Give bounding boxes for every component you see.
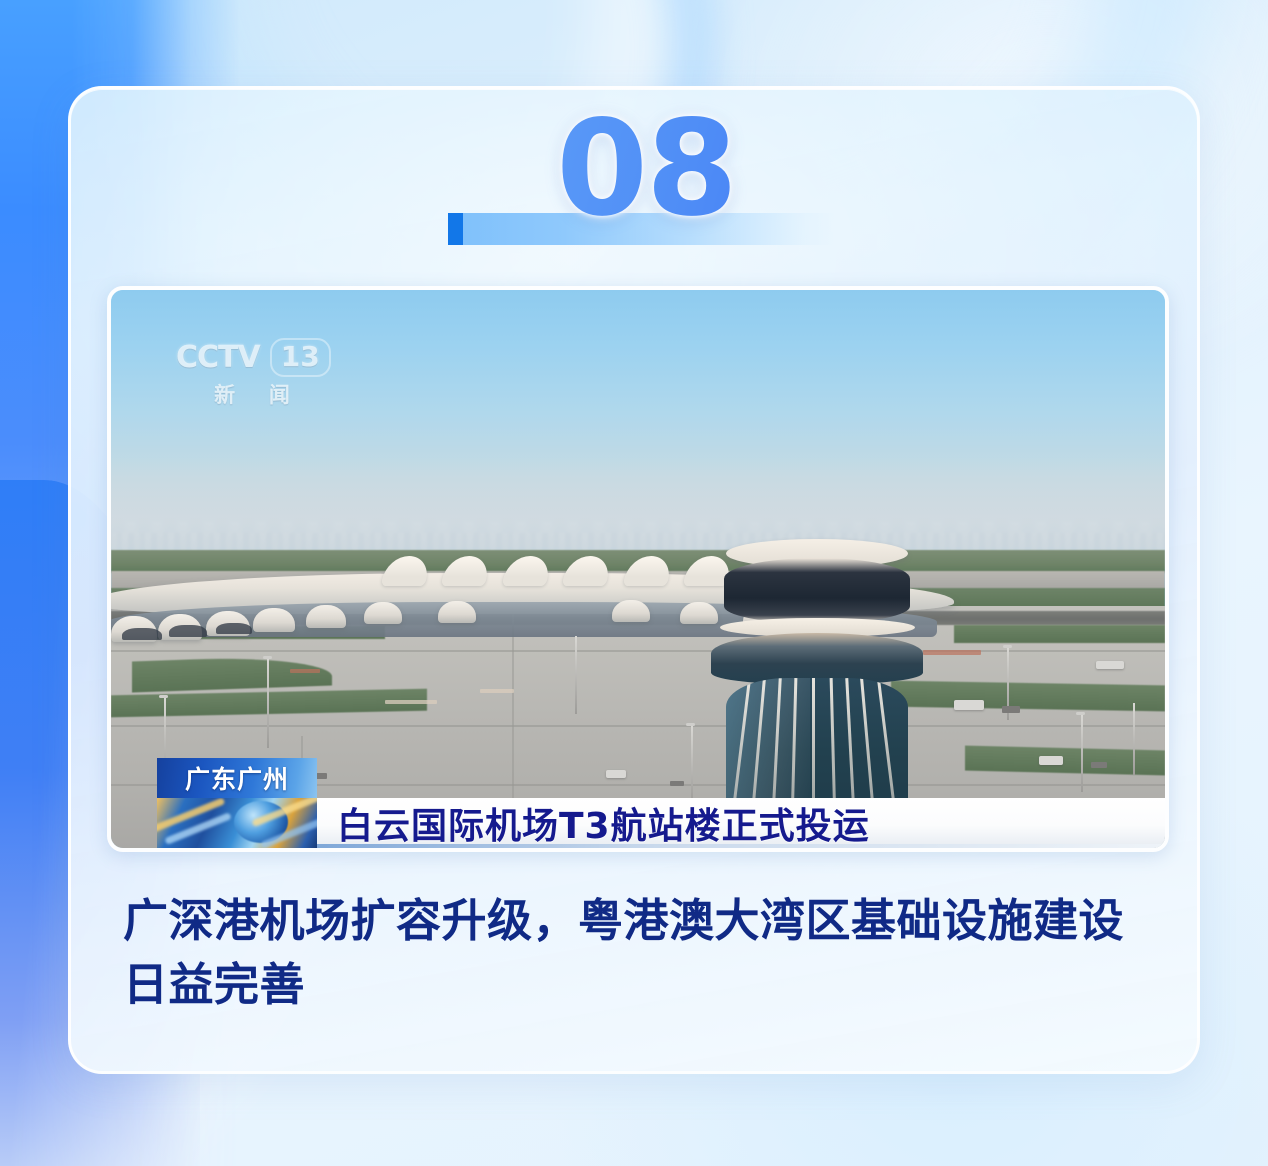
terminal-roof-wave — [623, 556, 673, 586]
news-lower-third: 广东广州 白云国际机场T3航站楼正式投运 — [111, 752, 1165, 848]
apron-light-head — [159, 695, 168, 698]
apron-marking-red-2 — [290, 669, 320, 673]
article-caption: 广深港机场扩容升级，粤港澳大湾区基础设施建设日益完善 — [123, 889, 1143, 1017]
jet-bridge-shadow — [169, 625, 207, 637]
headline-underline — [317, 844, 1165, 848]
cctv-channel-number-box: 13 — [270, 338, 331, 377]
cctv-wordmark: CCTV — [176, 340, 260, 375]
jet-bridge-shadow — [216, 623, 252, 634]
terminal-roof-wave — [502, 556, 552, 586]
jet-bridge — [364, 602, 402, 624]
apron-marking-2 — [480, 689, 514, 693]
cctv-channel-logo: CCTV 13 新 闻 — [176, 338, 328, 404]
apron-light-pole — [267, 658, 269, 747]
apron-light-head — [1003, 645, 1012, 648]
news-video-frame[interactable]: CCTV 13 新 闻 广东广州 — [107, 286, 1169, 852]
section-number: 08 — [71, 103, 1197, 235]
scene-grass-strip-2 — [954, 625, 1165, 643]
apron-light-head — [686, 723, 695, 726]
lower-third-headline-bar: 白云国际机场T3航站楼正式投运 — [317, 798, 1165, 848]
jet-bridge-shadow — [122, 628, 162, 640]
tower-control-cab — [724, 558, 910, 623]
section-number-header: 08 — [71, 89, 1197, 289]
apron-light-head — [1076, 712, 1085, 715]
location-label: 广东广州 — [185, 760, 289, 796]
video-scene: CCTV 13 新 闻 广东广州 — [111, 290, 1165, 848]
headline-text: 白云国际机场T3航站楼正式投运 — [317, 797, 870, 848]
cctv-logo-row: CCTV 13 — [176, 338, 328, 377]
apron-light-pole — [575, 636, 577, 714]
tower-observation-deck — [711, 633, 923, 685]
ground-vehicle — [954, 700, 984, 710]
apron-marking-red-1 — [923, 650, 981, 655]
cctv-slash-icon — [260, 343, 270, 373]
terminal-roof-wave — [562, 556, 612, 586]
apron-light-head — [263, 656, 272, 659]
jet-bridge — [306, 605, 346, 628]
cctv-channel-number: 13 — [281, 340, 320, 373]
jet-bridge — [253, 608, 295, 632]
cctv-channel-subtitle: 新 闻 — [176, 379, 328, 409]
ground-vehicle-dark — [1002, 706, 1020, 713]
jet-bridge — [438, 601, 476, 623]
lower-third-location-badge: 广东广州 — [157, 758, 317, 798]
apron-seam-2 — [111, 725, 1165, 727]
jet-bridge — [612, 600, 650, 622]
scene-grass-strip-4 — [891, 681, 1165, 711]
terminal-roof-wave — [381, 556, 431, 586]
content-card: 08 — [68, 86, 1200, 1074]
terminal-roof-wave — [441, 556, 491, 586]
ground-vehicle — [1096, 661, 1124, 669]
lower-third-globe-graphic — [157, 798, 317, 848]
apron-marking-1 — [385, 700, 437, 704]
